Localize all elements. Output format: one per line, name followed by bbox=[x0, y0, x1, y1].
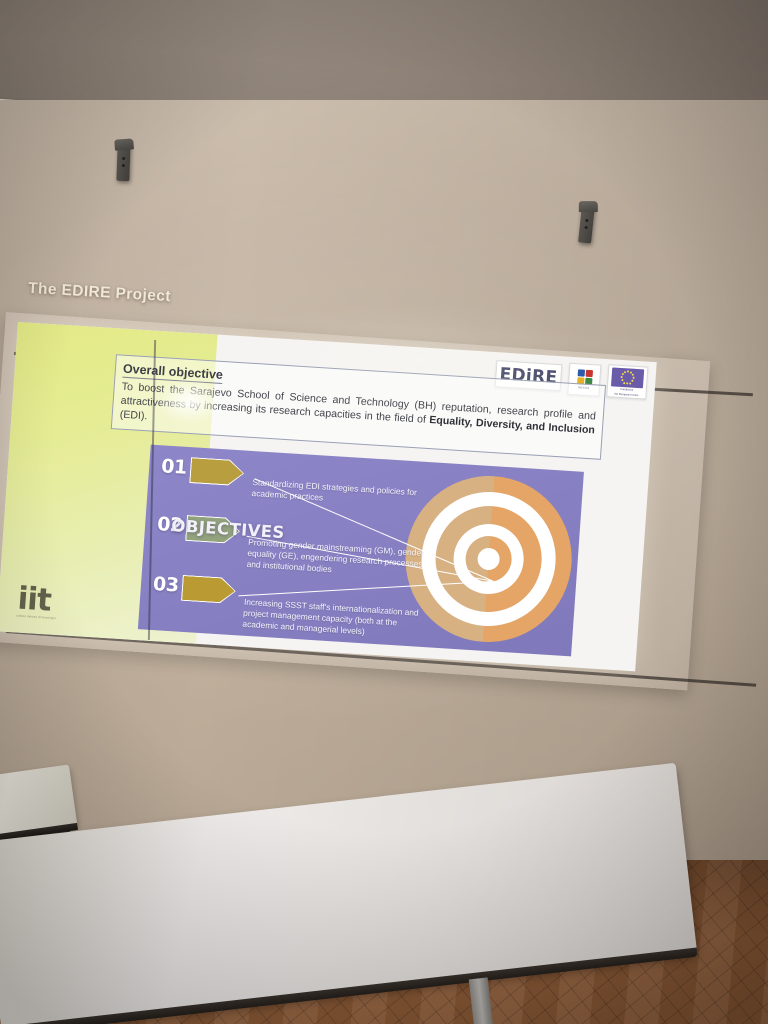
objective-row-03: 03 Increasing SSST staff's international… bbox=[150, 573, 435, 641]
objective-text-03: Increasing SSST staff's internationaliza… bbox=[242, 597, 434, 641]
iit-wordmark: iit bbox=[17, 586, 71, 616]
overall-objective-heading: Overall objective bbox=[122, 362, 223, 384]
eu-funding-logo: Funded by the European Union bbox=[606, 364, 648, 399]
objective-arrow-01 bbox=[190, 458, 244, 485]
objectives-diagram: 01 Standardizing EDI strategies and poli… bbox=[138, 445, 584, 657]
wall-bracket-left-icon bbox=[116, 143, 130, 181]
eu-funding-line-2: the European Union bbox=[614, 392, 638, 397]
iit-logo: iit istituto italiano di tecnologia bbox=[16, 586, 70, 622]
objective-arrow-03 bbox=[182, 576, 236, 603]
objective-number-03: 03 bbox=[152, 573, 183, 597]
objective-text-01: Standardizing EDI strategies and policie… bbox=[251, 477, 442, 510]
classroom-photo-scene: The EDIRE Project iit istituto italiano … bbox=[0, 0, 768, 1024]
projected-slide: iit istituto italiano di tecnologia EDiR… bbox=[0, 322, 657, 671]
objective-number-01: 01 bbox=[161, 455, 192, 479]
objective-row-01: 01 Standardizing EDI strategies and poli… bbox=[159, 455, 443, 510]
eu-flag-icon bbox=[611, 367, 644, 388]
objective-text-part-2: (EDI). bbox=[119, 408, 147, 422]
nexus-pinwheel-icon bbox=[577, 369, 593, 385]
